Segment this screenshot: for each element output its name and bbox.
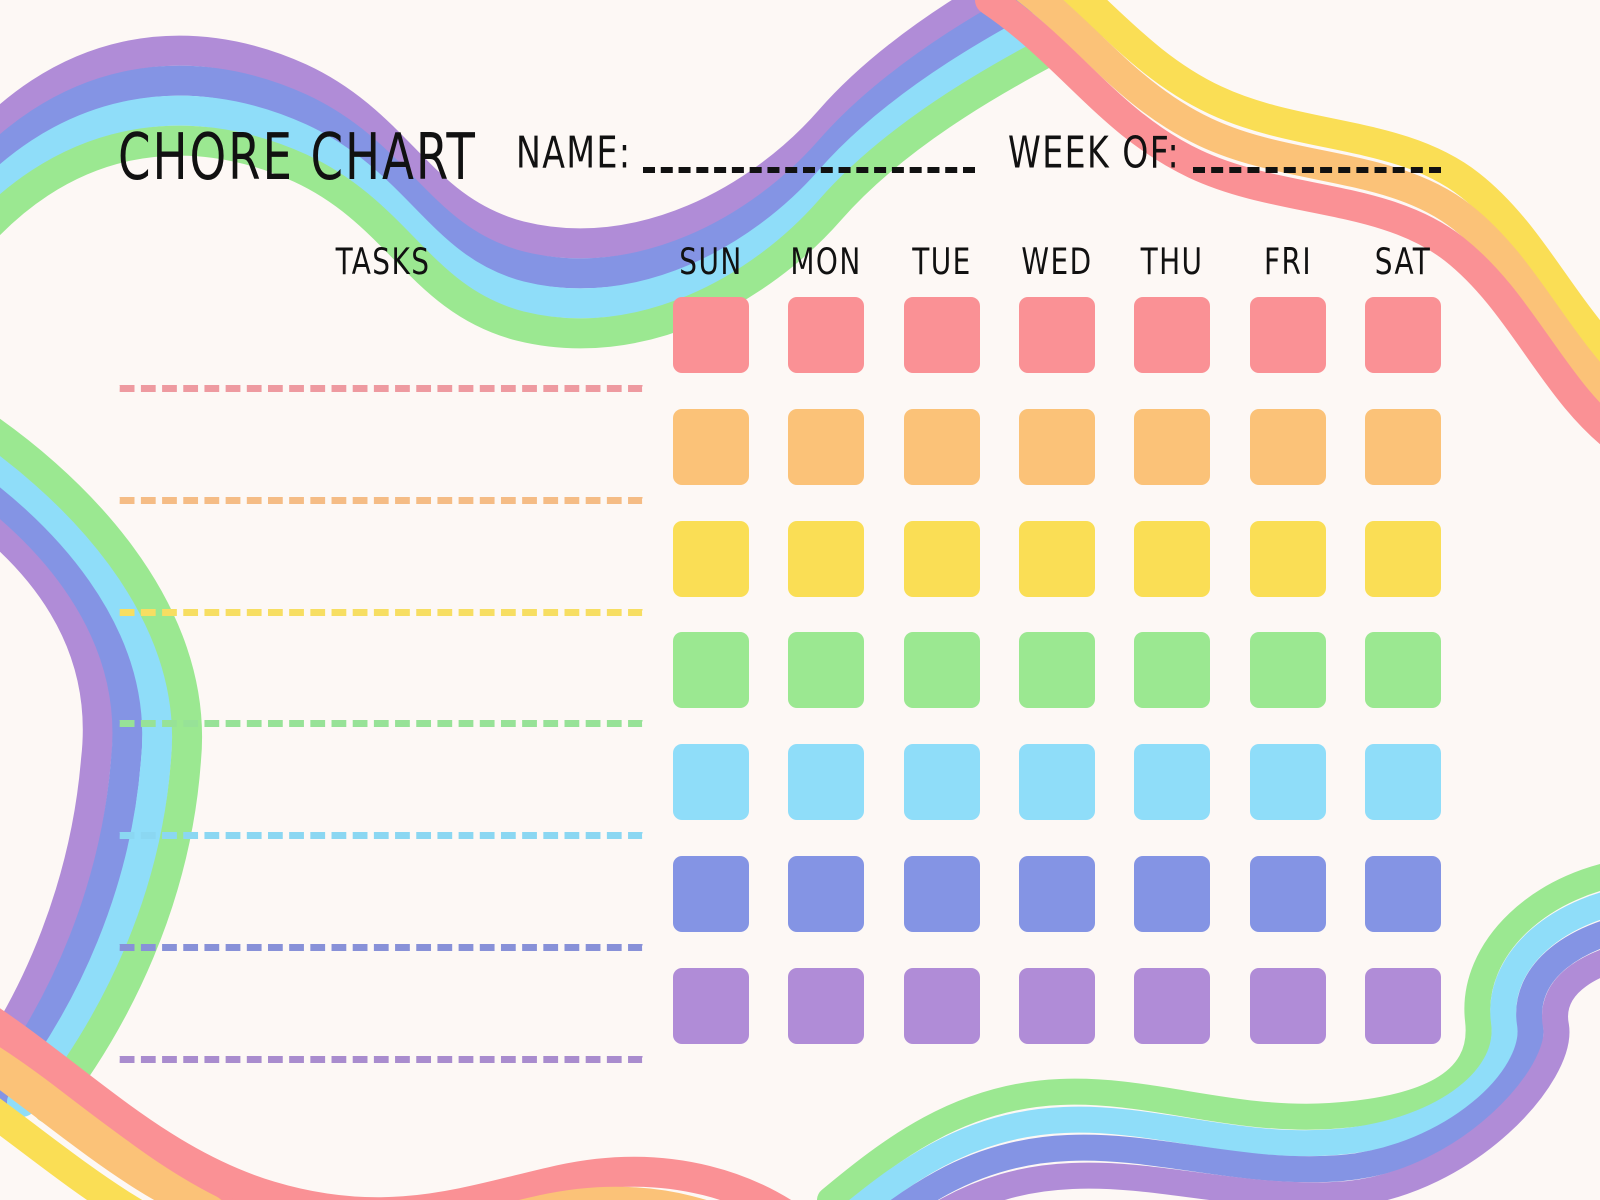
chore-grid xyxy=(0,0,1600,1200)
chore-cell-r6-tue[interactable] xyxy=(904,856,980,932)
task-write-line-6[interactable] xyxy=(117,944,645,951)
chore-cell-r3-mon[interactable] xyxy=(788,521,864,597)
task-write-line-2[interactable] xyxy=(117,497,645,504)
chore-cell-r2-sun[interactable] xyxy=(673,409,749,485)
chore-cell-r2-sat[interactable] xyxy=(1365,409,1441,485)
chore-cell-r2-wed[interactable] xyxy=(1019,409,1095,485)
chore-cell-r5-fri[interactable] xyxy=(1250,744,1326,820)
chore-cell-r3-tue[interactable] xyxy=(904,521,980,597)
chore-cell-r1-fri[interactable] xyxy=(1250,297,1326,373)
chore-cell-r4-tue[interactable] xyxy=(904,632,980,708)
chore-cell-r4-wed[interactable] xyxy=(1019,632,1095,708)
chore-cell-r7-fri[interactable] xyxy=(1250,968,1326,1044)
chore-cell-r6-sun[interactable] xyxy=(673,856,749,932)
task-write-line-5[interactable] xyxy=(117,832,645,839)
chore-cell-r6-thu[interactable] xyxy=(1134,856,1210,932)
chore-cell-r1-thu[interactable] xyxy=(1134,297,1210,373)
chore-cell-r1-mon[interactable] xyxy=(788,297,864,373)
chore-cell-r7-thu[interactable] xyxy=(1134,968,1210,1044)
chore-cell-r6-wed[interactable] xyxy=(1019,856,1095,932)
chore-cell-r1-sun[interactable] xyxy=(673,297,749,373)
task-write-line-4[interactable] xyxy=(117,720,645,727)
chore-cell-r5-sun[interactable] xyxy=(673,744,749,820)
chore-cell-r5-wed[interactable] xyxy=(1019,744,1095,820)
task-write-line-3[interactable] xyxy=(117,609,645,616)
chore-cell-r7-sat[interactable] xyxy=(1365,968,1441,1044)
chore-cell-r2-thu[interactable] xyxy=(1134,409,1210,485)
chore-cell-r3-thu[interactable] xyxy=(1134,521,1210,597)
chore-cell-r1-tue[interactable] xyxy=(904,297,980,373)
chore-cell-r3-sun[interactable] xyxy=(673,521,749,597)
chore-cell-r7-wed[interactable] xyxy=(1019,968,1095,1044)
chore-cell-r4-mon[interactable] xyxy=(788,632,864,708)
chore-cell-r6-sat[interactable] xyxy=(1365,856,1441,932)
chore-cell-r3-fri[interactable] xyxy=(1250,521,1326,597)
chore-cell-r1-sat[interactable] xyxy=(1365,297,1441,373)
chore-cell-r5-mon[interactable] xyxy=(788,744,864,820)
chore-cell-r7-tue[interactable] xyxy=(904,968,980,1044)
chore-cell-r3-wed[interactable] xyxy=(1019,521,1095,597)
chore-cell-r6-mon[interactable] xyxy=(788,856,864,932)
chore-cell-r2-fri[interactable] xyxy=(1250,409,1326,485)
chore-cell-r1-wed[interactable] xyxy=(1019,297,1095,373)
chore-cell-r3-sat[interactable] xyxy=(1365,521,1441,597)
chore-cell-r7-sun[interactable] xyxy=(673,968,749,1044)
task-write-line-7[interactable] xyxy=(117,1056,645,1063)
chore-cell-r2-mon[interactable] xyxy=(788,409,864,485)
chore-cell-r5-sat[interactable] xyxy=(1365,744,1441,820)
chore-cell-r4-sun[interactable] xyxy=(673,632,749,708)
chore-cell-r5-tue[interactable] xyxy=(904,744,980,820)
chore-cell-r4-thu[interactable] xyxy=(1134,632,1210,708)
chore-cell-r2-tue[interactable] xyxy=(904,409,980,485)
chore-cell-r5-thu[interactable] xyxy=(1134,744,1210,820)
task-write-line-1[interactable] xyxy=(117,385,645,392)
chore-cell-r4-fri[interactable] xyxy=(1250,632,1326,708)
chore-cell-r4-sat[interactable] xyxy=(1365,632,1441,708)
chore-chart-sheet: CHORE CHART NAME: WEEK OF: TASKS SUNMONT… xyxy=(0,0,1600,1200)
chore-cell-r7-mon[interactable] xyxy=(788,968,864,1044)
chore-cell-r6-fri[interactable] xyxy=(1250,856,1326,932)
